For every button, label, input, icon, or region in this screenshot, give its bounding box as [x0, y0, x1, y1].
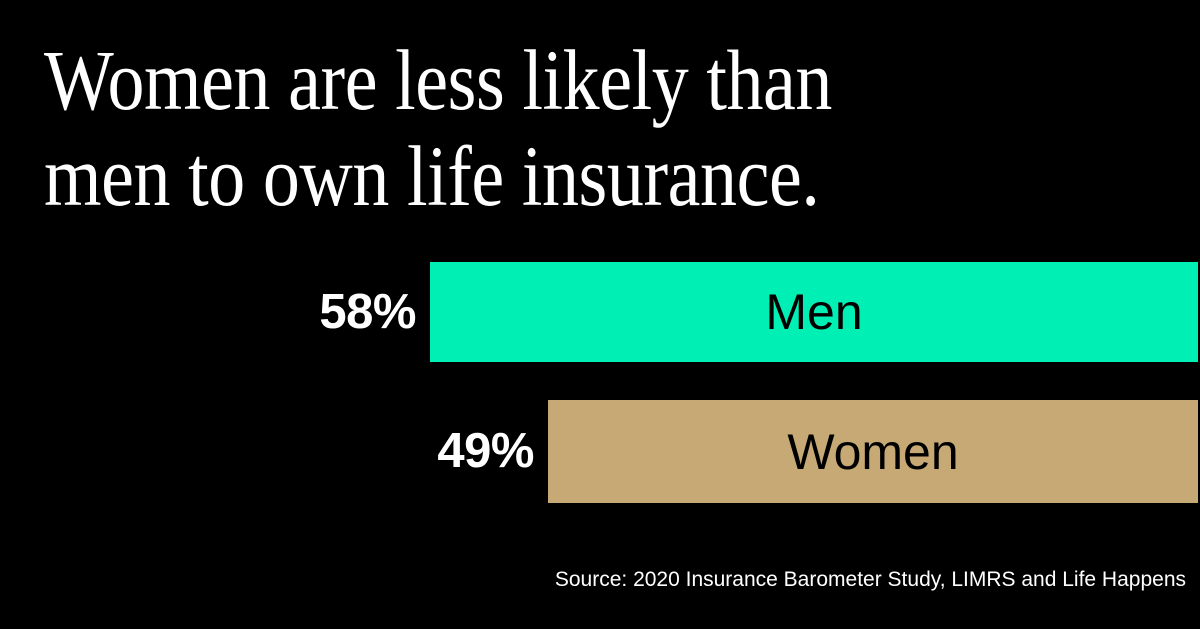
women-bar: Women — [548, 400, 1198, 503]
men-bar-label: Men — [765, 287, 862, 337]
bar-row-men: 58% Men — [0, 262, 1198, 362]
women-bar-label: Women — [787, 427, 958, 477]
bar-row-women: 49% Women — [0, 400, 1198, 503]
bar-chart: 58% Men 49% Women — [0, 0, 1200, 629]
men-bar: Men — [430, 262, 1198, 362]
women-percent-label: 49% — [0, 427, 548, 476]
men-percent-label: 58% — [0, 288, 430, 337]
source-note: Source: 2020 Insurance Barometer Study, … — [286, 566, 1186, 594]
infographic-canvas: Women are less likely than men to own li… — [0, 0, 1200, 629]
